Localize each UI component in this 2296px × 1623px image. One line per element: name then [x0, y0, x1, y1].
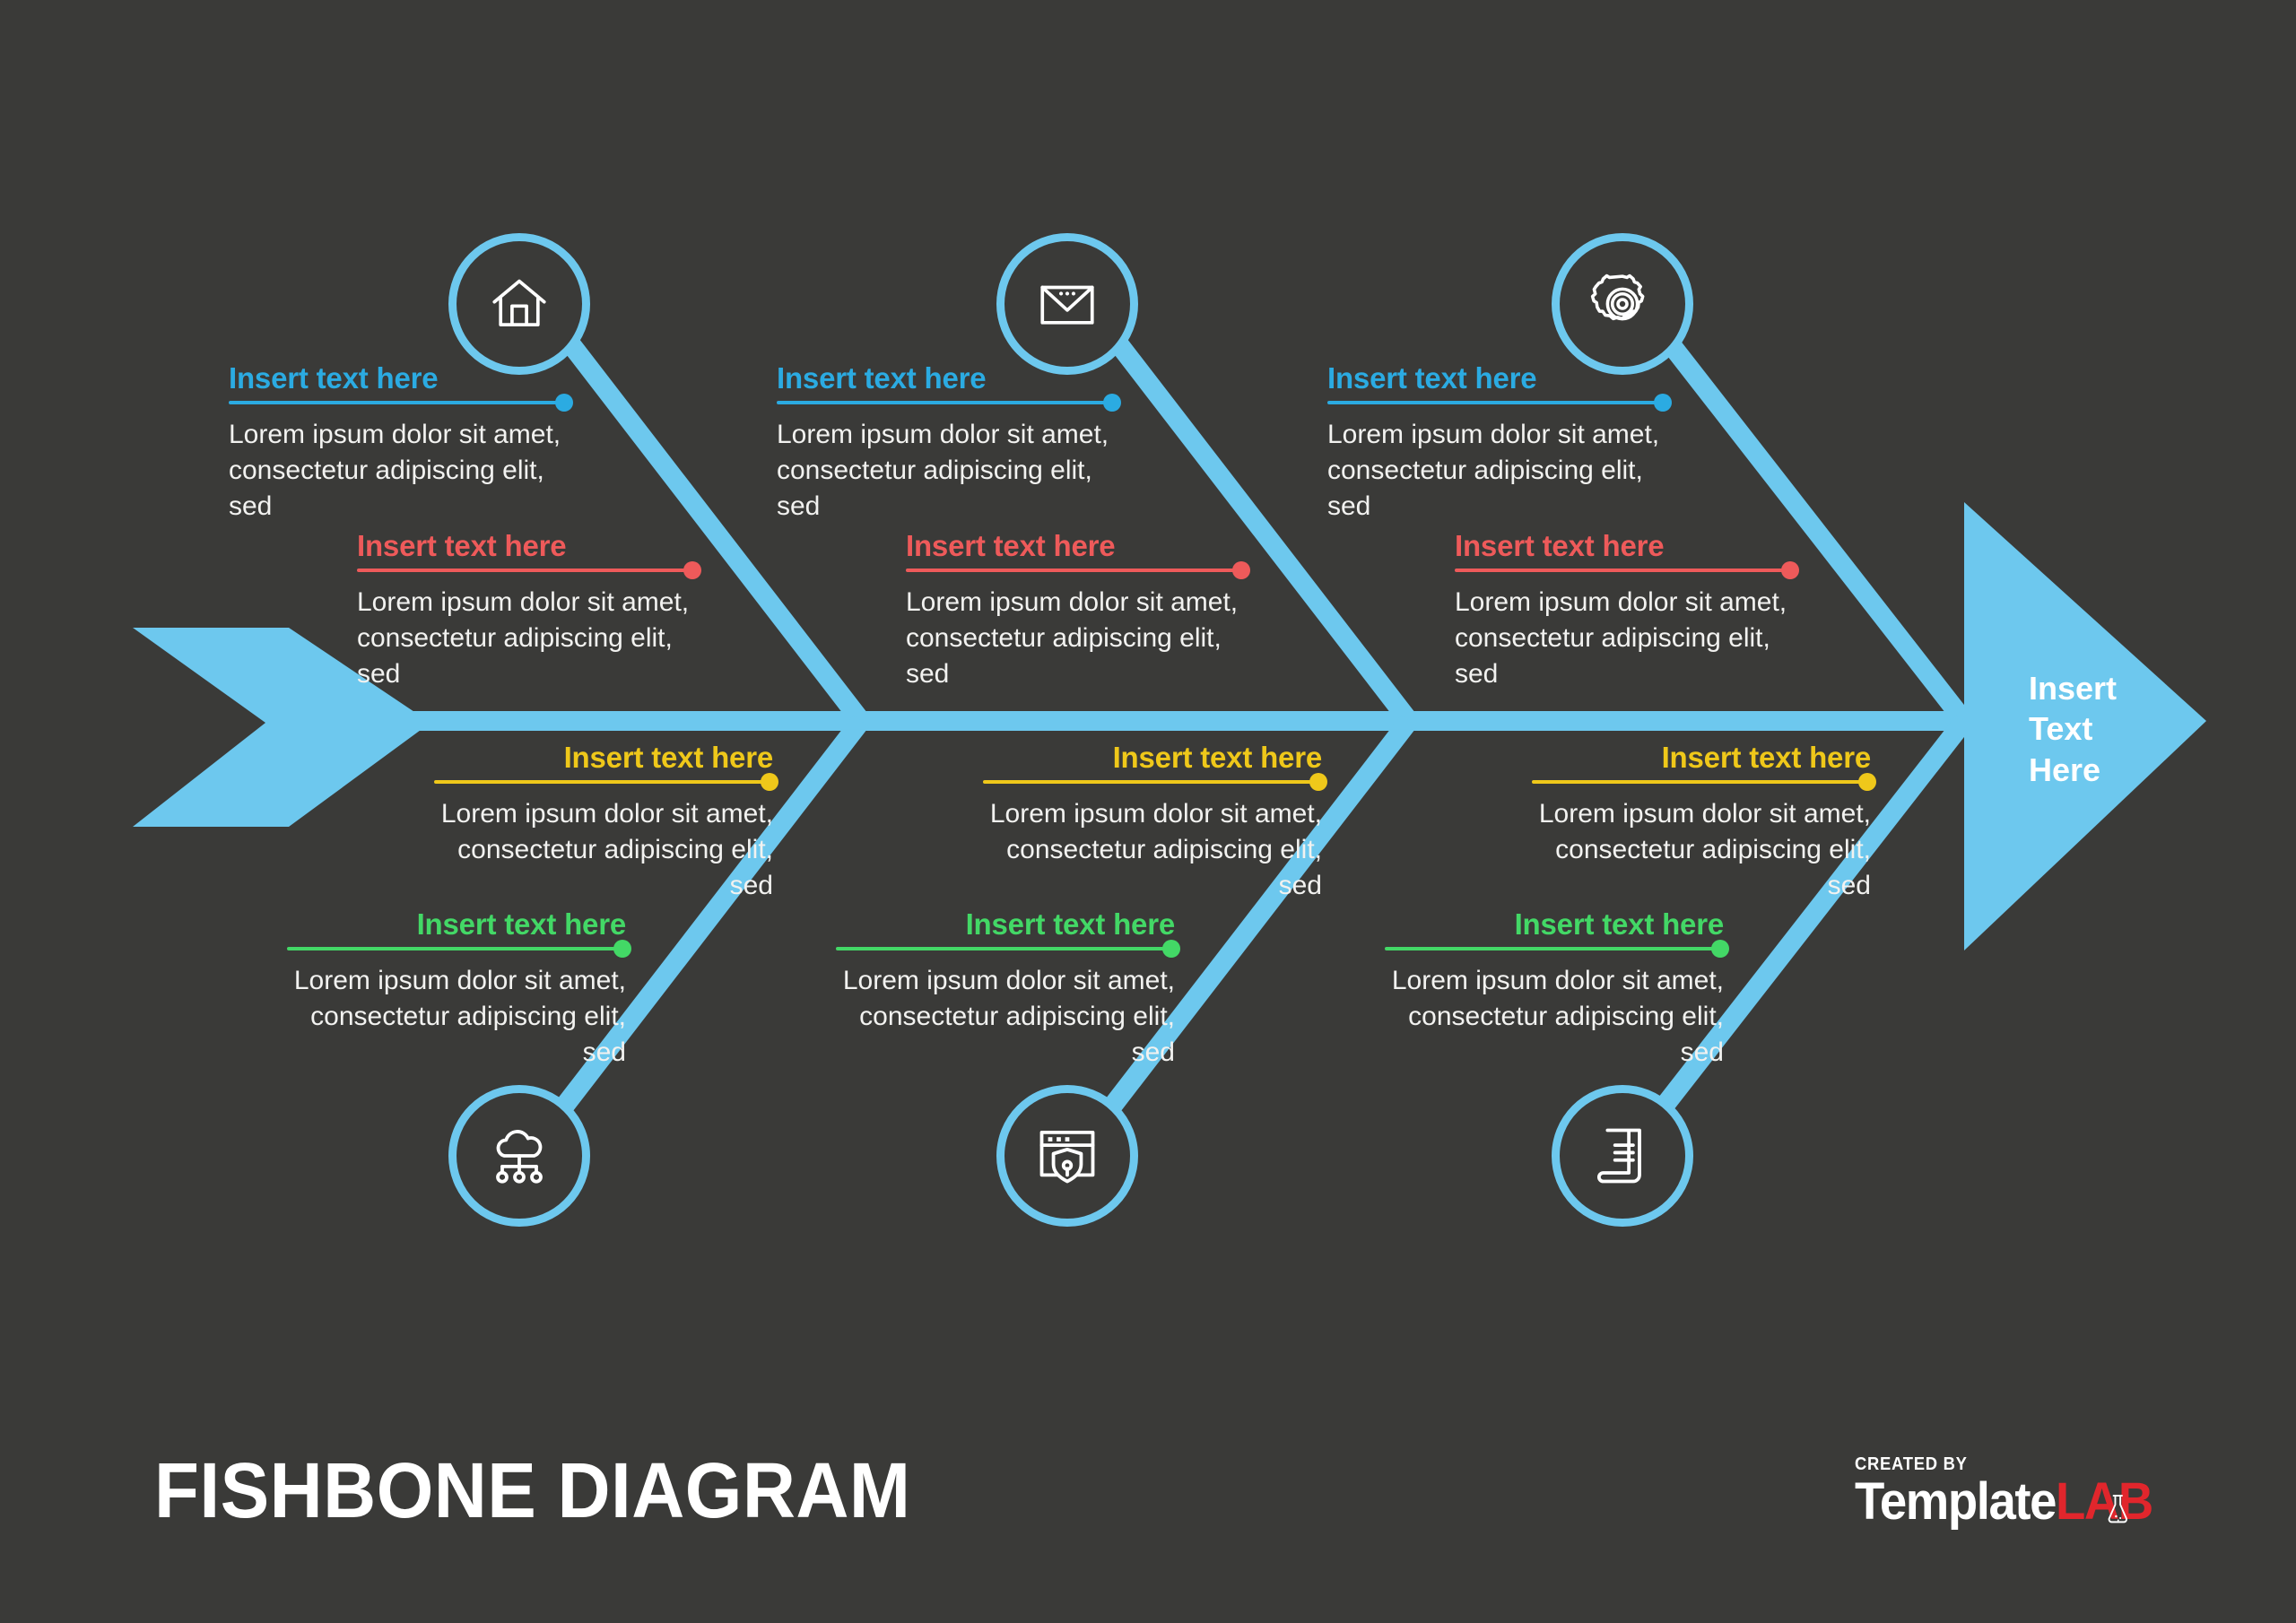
block-lower-1-green[interactable]: Insert text here Lorem ipsum dolor sit a…	[287, 909, 626, 1071]
block-body: Lorem ipsum dolor sit amet, consectetur …	[434, 796, 773, 904]
block-rule	[906, 568, 1245, 572]
browser-shield-icon	[1033, 1122, 1101, 1190]
block-heading: Insert text here	[1532, 742, 1871, 780]
home-icon	[486, 271, 552, 337]
block-heading: Insert text here	[434, 742, 773, 780]
block-rule	[1532, 780, 1871, 784]
block-body: Lorem ipsum dolor sit amet, consectetur …	[836, 963, 1175, 1071]
block-heading: Insert text here	[229, 363, 568, 401]
block-upper-3-blue[interactable]: Insert text here Lorem ipsum dolor sit a…	[1327, 363, 1666, 525]
block-body: Lorem ipsum dolor sit amet, consectetur …	[1455, 585, 1794, 692]
block-dot	[1103, 394, 1121, 412]
cloud-network-icon	[485, 1122, 553, 1190]
block-body: Lorem ipsum dolor sit amet, consectetur …	[1327, 417, 1666, 525]
block-upper-2-blue[interactable]: Insert text here Lorem ipsum dolor sit a…	[777, 363, 1116, 525]
document-scroll-icon	[1588, 1122, 1657, 1190]
logo-wordmark: TemplateLAB	[1855, 1476, 2152, 1528]
block-heading: Insert text here	[1455, 531, 1794, 568]
block-rule	[434, 780, 773, 784]
block-body: Lorem ipsum dolor sit amet, consectetur …	[983, 796, 1322, 904]
block-dot	[1781, 561, 1799, 579]
block-upper-1-red[interactable]: Insert text here Lorem ipsum dolor sit a…	[357, 531, 696, 692]
block-rule	[357, 568, 696, 572]
fish-spine	[265, 711, 2023, 731]
block-body: Lorem ipsum dolor sit amet, consectetur …	[777, 417, 1116, 525]
block-rule	[229, 401, 568, 404]
block-heading: Insert text here	[357, 531, 696, 568]
block-lower-1-yellow[interactable]: Insert text here Lorem ipsum dolor sit a…	[434, 742, 773, 904]
icon-node-home[interactable]	[448, 233, 590, 375]
icon-node-envelope[interactable]	[996, 233, 1138, 375]
block-dot	[1654, 394, 1672, 412]
gear-icon	[1588, 270, 1657, 338]
block-body: Lorem ipsum dolor sit amet, consectetur …	[906, 585, 1245, 692]
block-lower-2-green[interactable]: Insert text here Lorem ipsum dolor sit a…	[836, 909, 1175, 1071]
block-dot	[1858, 773, 1876, 791]
block-rule	[287, 947, 626, 950]
block-heading: Insert text here	[906, 531, 1245, 568]
block-dot	[1232, 561, 1250, 579]
icon-node-cloud-network[interactable]	[448, 1085, 590, 1227]
block-heading: Insert text here	[1327, 363, 1666, 401]
block-heading: Insert text here	[1385, 909, 1724, 947]
page-title: FISHBONE DIAGRAM	[154, 1446, 911, 1536]
block-heading: Insert text here	[836, 909, 1175, 947]
head-arrow-label: Insert Text Here	[2029, 668, 2117, 790]
block-heading: Insert text here	[777, 363, 1116, 401]
block-rule	[777, 401, 1116, 404]
block-dot	[1309, 773, 1327, 791]
block-dot	[1162, 940, 1180, 958]
block-body: Lorem ipsum dolor sit amet, consectetur …	[357, 585, 696, 692]
block-lower-3-green[interactable]: Insert text here Lorem ipsum dolor sit a…	[1385, 909, 1724, 1071]
block-body: Lorem ipsum dolor sit amet, consectetur …	[287, 963, 626, 1071]
block-upper-3-red[interactable]: Insert text here Lorem ipsum dolor sit a…	[1455, 531, 1794, 692]
templatelab-logo[interactable]: CREATED BY TemplateLAB	[1855, 1454, 2171, 1528]
icon-node-browser-shield[interactable]	[996, 1085, 1138, 1227]
block-body: Lorem ipsum dolor sit amet, consectetur …	[1532, 796, 1871, 904]
logo-word-lab: LAB	[2056, 1472, 2152, 1531]
logo-word-template: Template	[1855, 1472, 2056, 1531]
block-rule	[983, 780, 1322, 784]
block-heading: Insert text here	[287, 909, 626, 947]
icon-node-gear[interactable]	[1552, 233, 1693, 375]
block-lower-2-yellow[interactable]: Insert text here Lorem ipsum dolor sit a…	[983, 742, 1322, 904]
block-upper-1-blue[interactable]: Insert text here Lorem ipsum dolor sit a…	[229, 363, 568, 525]
block-body: Lorem ipsum dolor sit amet, consectetur …	[229, 417, 568, 525]
block-upper-2-red[interactable]: Insert text here Lorem ipsum dolor sit a…	[906, 531, 1245, 692]
icon-node-document[interactable]	[1552, 1085, 1693, 1227]
block-dot	[1711, 940, 1729, 958]
block-dot	[761, 773, 778, 791]
block-rule	[1327, 401, 1666, 404]
flask-icon	[2107, 1480, 2128, 1532]
block-rule	[1455, 568, 1794, 572]
block-heading: Insert text here	[983, 742, 1322, 780]
envelope-icon	[1034, 271, 1100, 337]
fishbone-diagram: Insert Text Here Insert text here Lorem …	[0, 0, 2296, 1623]
block-dot	[613, 940, 631, 958]
block-dot	[683, 561, 701, 579]
block-rule	[1385, 947, 1724, 950]
block-dot	[555, 394, 573, 412]
block-body: Lorem ipsum dolor sit amet, consectetur …	[1385, 963, 1724, 1071]
block-rule	[836, 947, 1175, 950]
block-lower-3-yellow[interactable]: Insert text here Lorem ipsum dolor sit a…	[1532, 742, 1871, 904]
